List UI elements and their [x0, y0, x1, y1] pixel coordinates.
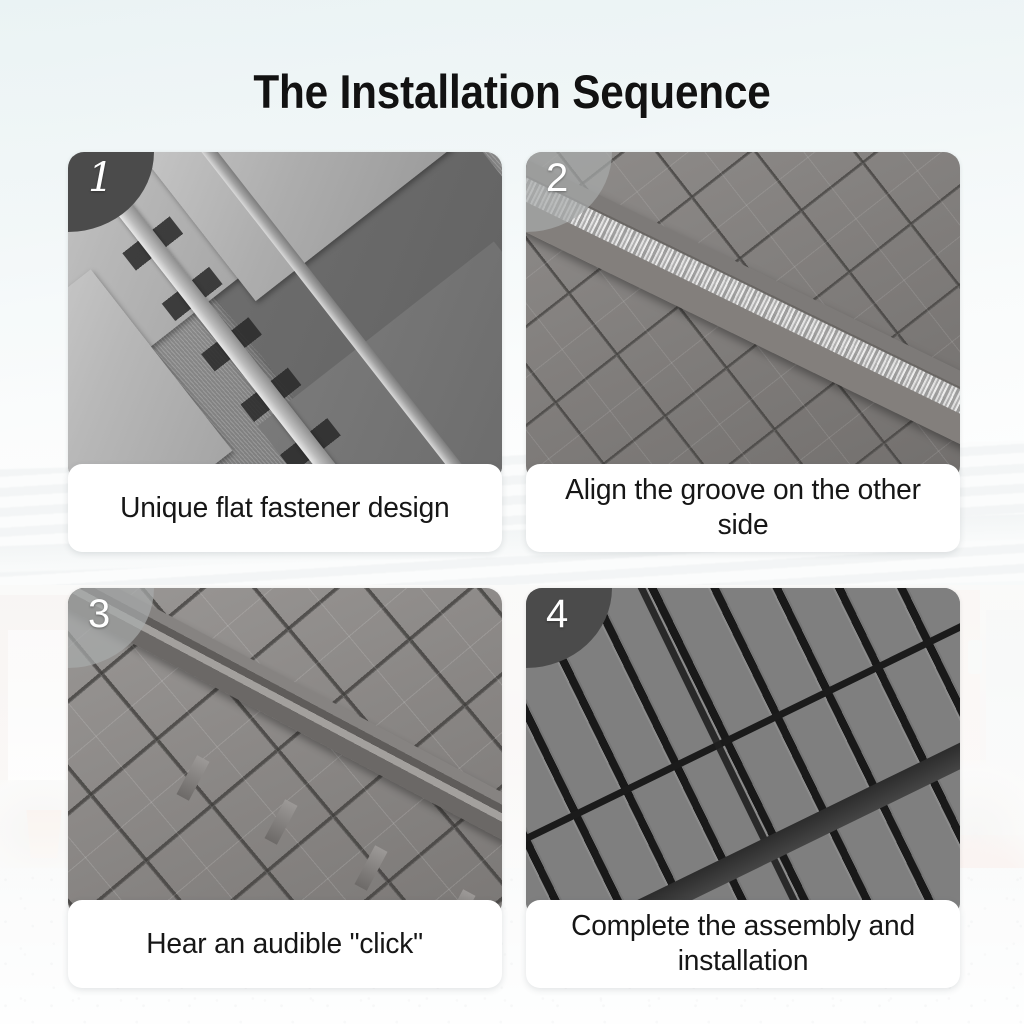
step-4-photo: 4: [526, 588, 960, 918]
step-2-photo: 2: [526, 152, 960, 482]
step-3-number: 3: [88, 594, 110, 634]
step-1-number: 1: [88, 158, 113, 198]
step-card-1[interactable]: 1 Unique flat fastener design: [68, 152, 502, 552]
step-2-caption: Align the groove on the other side: [526, 464, 960, 552]
step-card-3[interactable]: 3 Hear an audible "click": [68, 588, 502, 988]
step-3-caption-text: Hear an audible "click": [147, 927, 424, 962]
step-4-caption-text: Complete the assembly and installation: [546, 909, 940, 979]
step-4-number: 4: [546, 594, 568, 634]
step-2-caption-text: Align the groove on the other side: [546, 473, 940, 543]
step-1-caption: Unique flat fastener design: [68, 464, 502, 552]
step-2-number: 2: [546, 158, 568, 198]
step-card-2[interactable]: 2 Align the groove on the other side: [526, 152, 960, 552]
page-title: The Installation Sequence: [51, 64, 973, 119]
step-1-caption-text: Unique flat fastener design: [120, 491, 449, 526]
step-3-caption: Hear an audible "click": [68, 900, 502, 988]
step-1-photo: 1: [68, 152, 502, 482]
installation-steps-grid: 1 Unique flat fastener design 2 Align th…: [68, 152, 960, 988]
step-3-photo: 3: [68, 588, 502, 918]
step-4-caption: Complete the assembly and installation: [526, 900, 960, 988]
step-card-4[interactable]: 4 Complete the assembly and installation: [526, 588, 960, 988]
